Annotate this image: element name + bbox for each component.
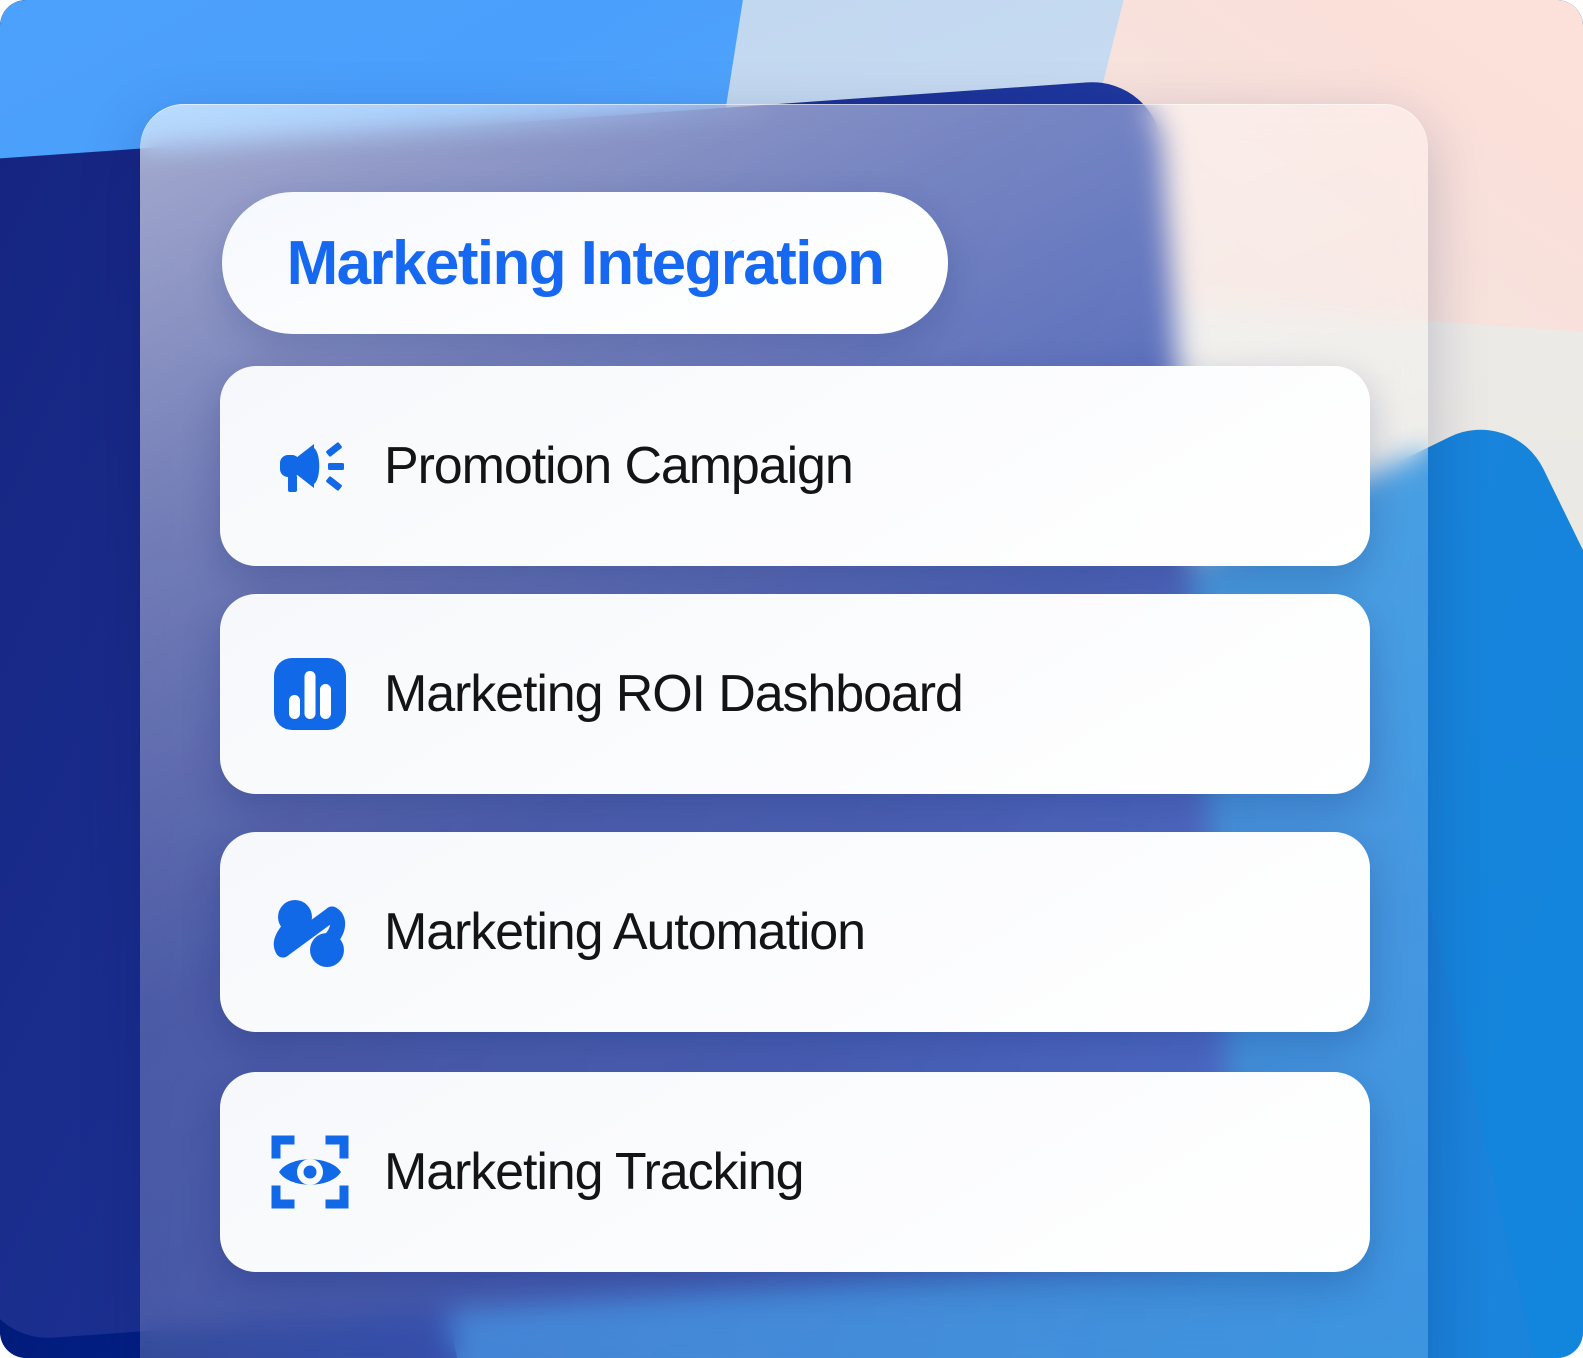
list-item-label: Marketing ROI Dashboard — [384, 664, 963, 724]
automation-flow-icon — [262, 884, 358, 980]
marketing-integration-panel: Marketing Integration — [0, 0, 1583, 1358]
panel-content: Marketing Integration — [0, 0, 1583, 1358]
list-item-label: Marketing Automation — [384, 902, 865, 962]
megaphone-icon — [262, 418, 358, 514]
list-item-marketing-automation[interactable]: Marketing Automation — [220, 832, 1370, 1032]
panel-title-pill: Marketing Integration — [222, 192, 948, 334]
list-item-promotion-campaign[interactable]: Promotion Campaign — [220, 366, 1370, 566]
eye-scan-icon — [262, 1124, 358, 1220]
list-item-marketing-tracking[interactable]: Marketing Tracking — [220, 1072, 1370, 1272]
list-item-label: Marketing Tracking — [384, 1142, 803, 1202]
list-item-marketing-roi-dashboard[interactable]: Marketing ROI Dashboard — [220, 594, 1370, 794]
list-item-label: Promotion Campaign — [384, 436, 853, 496]
bar-chart-icon — [262, 646, 358, 742]
page-title: Marketing Integration — [287, 228, 884, 299]
